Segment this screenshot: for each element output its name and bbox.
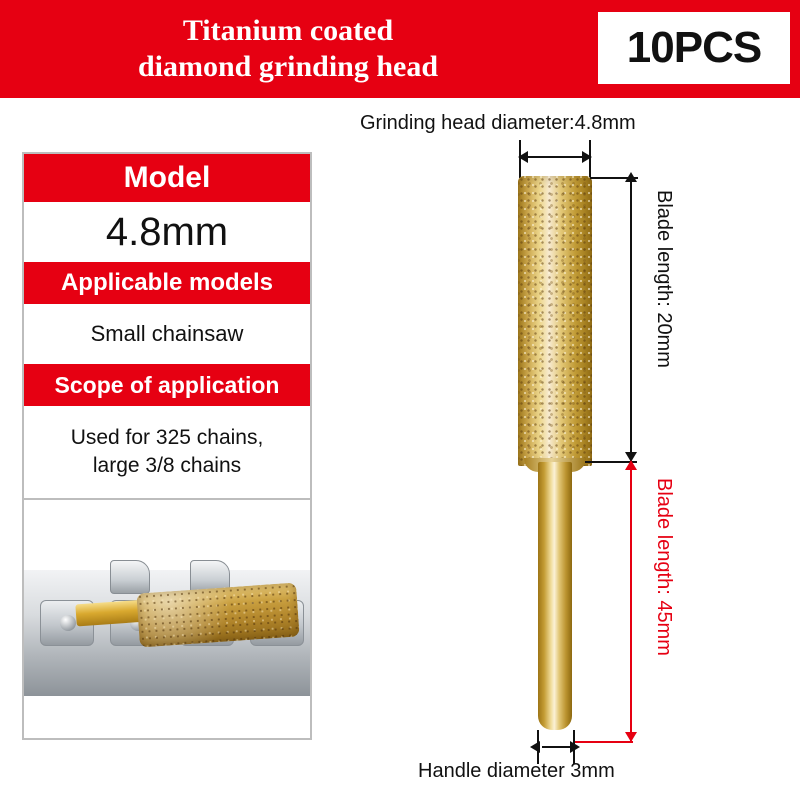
spec-card: Model 4.8mm Applicable models Small chai… xyxy=(22,152,312,740)
grinding-bit-photo-graphic xyxy=(76,584,310,646)
diamond-grit-texture xyxy=(518,176,592,466)
head-diameter-arrow-left xyxy=(518,151,528,163)
blade-length-45-label: Blade length: 45mm xyxy=(654,478,674,656)
handle-diameter-label: Handle diameter 3mm xyxy=(418,760,615,783)
spec-applicable-value: Small chainsaw xyxy=(24,304,310,364)
head-diameter-label: Grinding head diameter:4.8mm xyxy=(360,112,636,135)
bit-shank-graphic xyxy=(75,600,146,627)
chain-rivet-graphic xyxy=(60,615,76,631)
blade-length-20-label: Blade length: 20mm xyxy=(654,190,674,368)
page-title-line-1: Titanium coated xyxy=(8,13,568,49)
blade-length-45-arrow-top xyxy=(625,460,637,470)
blade-length-20-arrow-top xyxy=(625,172,637,182)
head-diameter-dimension-line xyxy=(522,156,588,158)
head-diameter-arrow-right xyxy=(582,151,592,163)
page-title: Titanium coated diamond grinding head xyxy=(8,13,568,85)
blade-length-45-extension-bottom xyxy=(573,741,633,743)
handle-diameter-arrow-right xyxy=(570,741,580,753)
bit-head-graphic xyxy=(136,582,299,647)
spec-scope-value-line-2: large 3/8 chains xyxy=(71,452,264,480)
spec-model-header: Model xyxy=(24,154,310,202)
spec-scope-header: Scope of application xyxy=(24,364,310,406)
spec-scope-value: Used for 325 chains, large 3/8 chains xyxy=(24,406,310,498)
handle-diameter-dimension-line xyxy=(542,746,570,748)
handle-shank xyxy=(538,462,572,730)
blade-length-45-dimension-line xyxy=(630,466,632,742)
quantity-label: 10PCS xyxy=(627,23,761,73)
handle-diameter-arrow-left xyxy=(530,741,540,753)
spec-model-value: 4.8mm xyxy=(24,202,310,262)
header-banner: Titanium coated diamond grinding head 10… xyxy=(0,0,800,98)
grinding-head-cylinder xyxy=(518,176,592,466)
quantity-badge: 10PCS xyxy=(598,12,790,84)
product-in-use-photo xyxy=(24,500,310,696)
bit-grit-texture xyxy=(136,582,299,647)
page-title-line-2: diamond grinding head xyxy=(8,49,568,85)
spec-scope-value-line-1: Used for 325 chains, xyxy=(71,424,264,452)
blade-length-20-dimension-line xyxy=(630,178,632,462)
spec-applicable-header: Applicable models xyxy=(24,262,310,304)
